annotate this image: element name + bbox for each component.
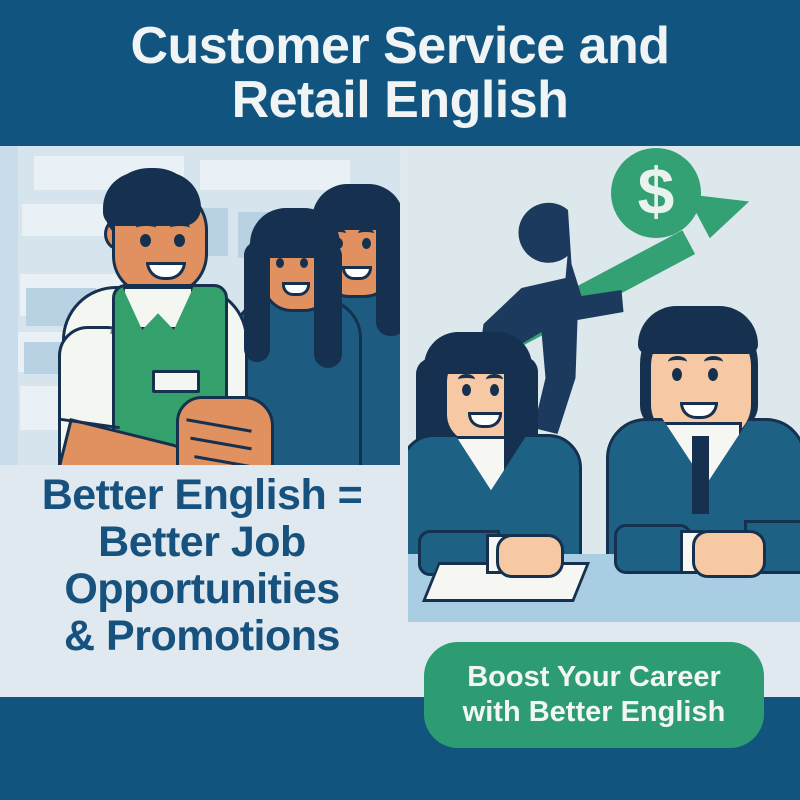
cta-button[interactable]: Boost Your Career with Better English	[424, 642, 764, 748]
pro-man-hair-top	[638, 306, 758, 354]
headline-line-4: & Promotions	[0, 613, 404, 660]
right-illustration-panel: $	[408, 146, 800, 622]
main-headline: Better English = Better Job Opportunitie…	[0, 472, 404, 659]
headline-line-3: Opportunities	[0, 566, 404, 613]
customer-woman-hair-left	[244, 242, 270, 362]
clerk-name-badge	[152, 370, 200, 393]
header-title-line-1: Customer Service and	[130, 19, 669, 73]
customer-woman-hair-right	[314, 242, 342, 368]
pro-woman-hand	[496, 534, 564, 578]
pro-man-tie	[692, 436, 709, 514]
cta-line-1: Boost Your Career	[467, 660, 721, 695]
header-title-line-2: Retail English	[232, 73, 569, 127]
headline-line-2: Better Job	[0, 519, 404, 566]
poster-canvas: Customer Service and Retail English	[0, 0, 800, 800]
headline-line-1: Better English =	[0, 472, 404, 519]
customer-man-hair-side	[376, 212, 400, 336]
clerk-hair-top	[103, 172, 201, 226]
left-illustration-panel	[0, 146, 400, 465]
cta-line-2: with Better English	[463, 695, 726, 730]
header-banner: Customer Service and Retail English	[0, 0, 800, 146]
pro-man-hand	[692, 530, 766, 578]
handshake-hands	[176, 396, 274, 465]
